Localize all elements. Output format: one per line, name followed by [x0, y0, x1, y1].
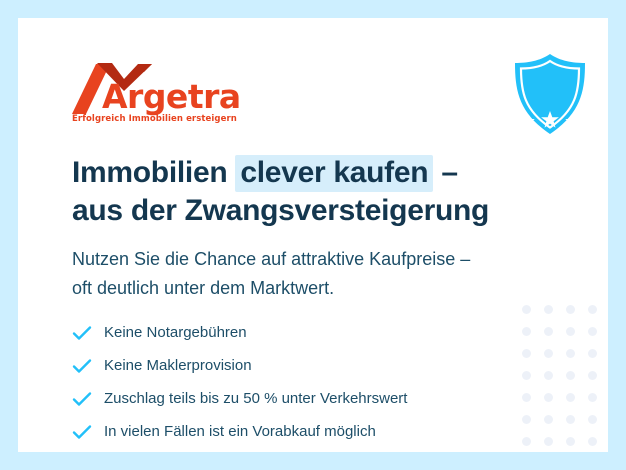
market-leader-badge: MARKT FÜHRER: [507, 51, 593, 137]
dot: [566, 371, 575, 380]
dot: [566, 393, 575, 402]
list-item-label: Keine Maklerprovision: [96, 357, 252, 374]
headline-part-2: –: [433, 156, 457, 189]
page-title: Immobilien clever kaufen – aus der Zwang…: [72, 154, 489, 230]
dot: [544, 349, 553, 358]
dot: [566, 349, 575, 358]
subtitle-line-2: oft deutlich unter dem Marktwert.: [72, 278, 334, 298]
argetra-wordmark: Argetra: [102, 77, 241, 116]
dot: [544, 371, 553, 380]
outer-frame: Argetra Erfolgreich Immobilien ersteiger…: [0, 0, 626, 470]
dot: [588, 393, 597, 402]
list-item: In vielen Fällen ist ein Vorabkauf mögli…: [72, 415, 532, 448]
headline-part-1: Immobilien: [72, 156, 235, 189]
dot: [566, 437, 575, 446]
dot: [588, 437, 597, 446]
dot: [544, 415, 553, 424]
badge-line-2: FÜHRER: [593, 92, 608, 107]
dot: [588, 305, 597, 314]
headline-line-2: aus der Zwangsversteigerung: [72, 194, 489, 227]
headline-highlight: clever kaufen: [235, 155, 433, 192]
dot: [566, 305, 575, 314]
promo-card: Argetra Erfolgreich Immobilien ersteiger…: [18, 18, 608, 452]
list-item-label: Keine Notargebühren: [96, 324, 247, 341]
argetra-tagline: Erfolgreich Immobilien ersteigern: [72, 114, 237, 124]
dot: [544, 437, 553, 446]
benefit-list: Keine Notargebühren Keine Maklerprovisio…: [72, 316, 532, 448]
decorative-dot-grid: [522, 305, 608, 452]
dot: [522, 305, 531, 314]
check-icon: [72, 391, 96, 407]
badge-line-1: MARKT: [593, 76, 608, 92]
list-item: Keine Notargebühren: [72, 316, 532, 349]
check-icon: [72, 358, 96, 374]
check-icon: [72, 424, 96, 440]
dot: [588, 371, 597, 380]
dot: [566, 415, 575, 424]
dot: [588, 349, 597, 358]
subtitle: Nutzen Sie die Chance auf attraktive Kau…: [72, 245, 470, 303]
dot: [588, 327, 597, 336]
dot: [544, 393, 553, 402]
argetra-logo[interactable]: Argetra Erfolgreich Immobilien ersteiger…: [72, 62, 222, 132]
list-item-label: Zuschlag teils bis zu 50 % unter Verkehr…: [96, 390, 407, 407]
list-item-label: In vielen Fällen ist ein Vorabkauf mögli…: [96, 423, 376, 440]
list-item: Keine Maklerprovision: [72, 349, 532, 382]
subtitle-line-1: Nutzen Sie die Chance auf attraktive Kau…: [72, 249, 470, 269]
check-icon: [72, 325, 96, 341]
list-item: Zuschlag teils bis zu 50 % unter Verkehr…: [72, 382, 532, 415]
dot: [544, 305, 553, 314]
dot: [588, 415, 597, 424]
badge-stars-icon: [507, 109, 593, 129]
dot: [544, 327, 553, 336]
dot: [566, 327, 575, 336]
